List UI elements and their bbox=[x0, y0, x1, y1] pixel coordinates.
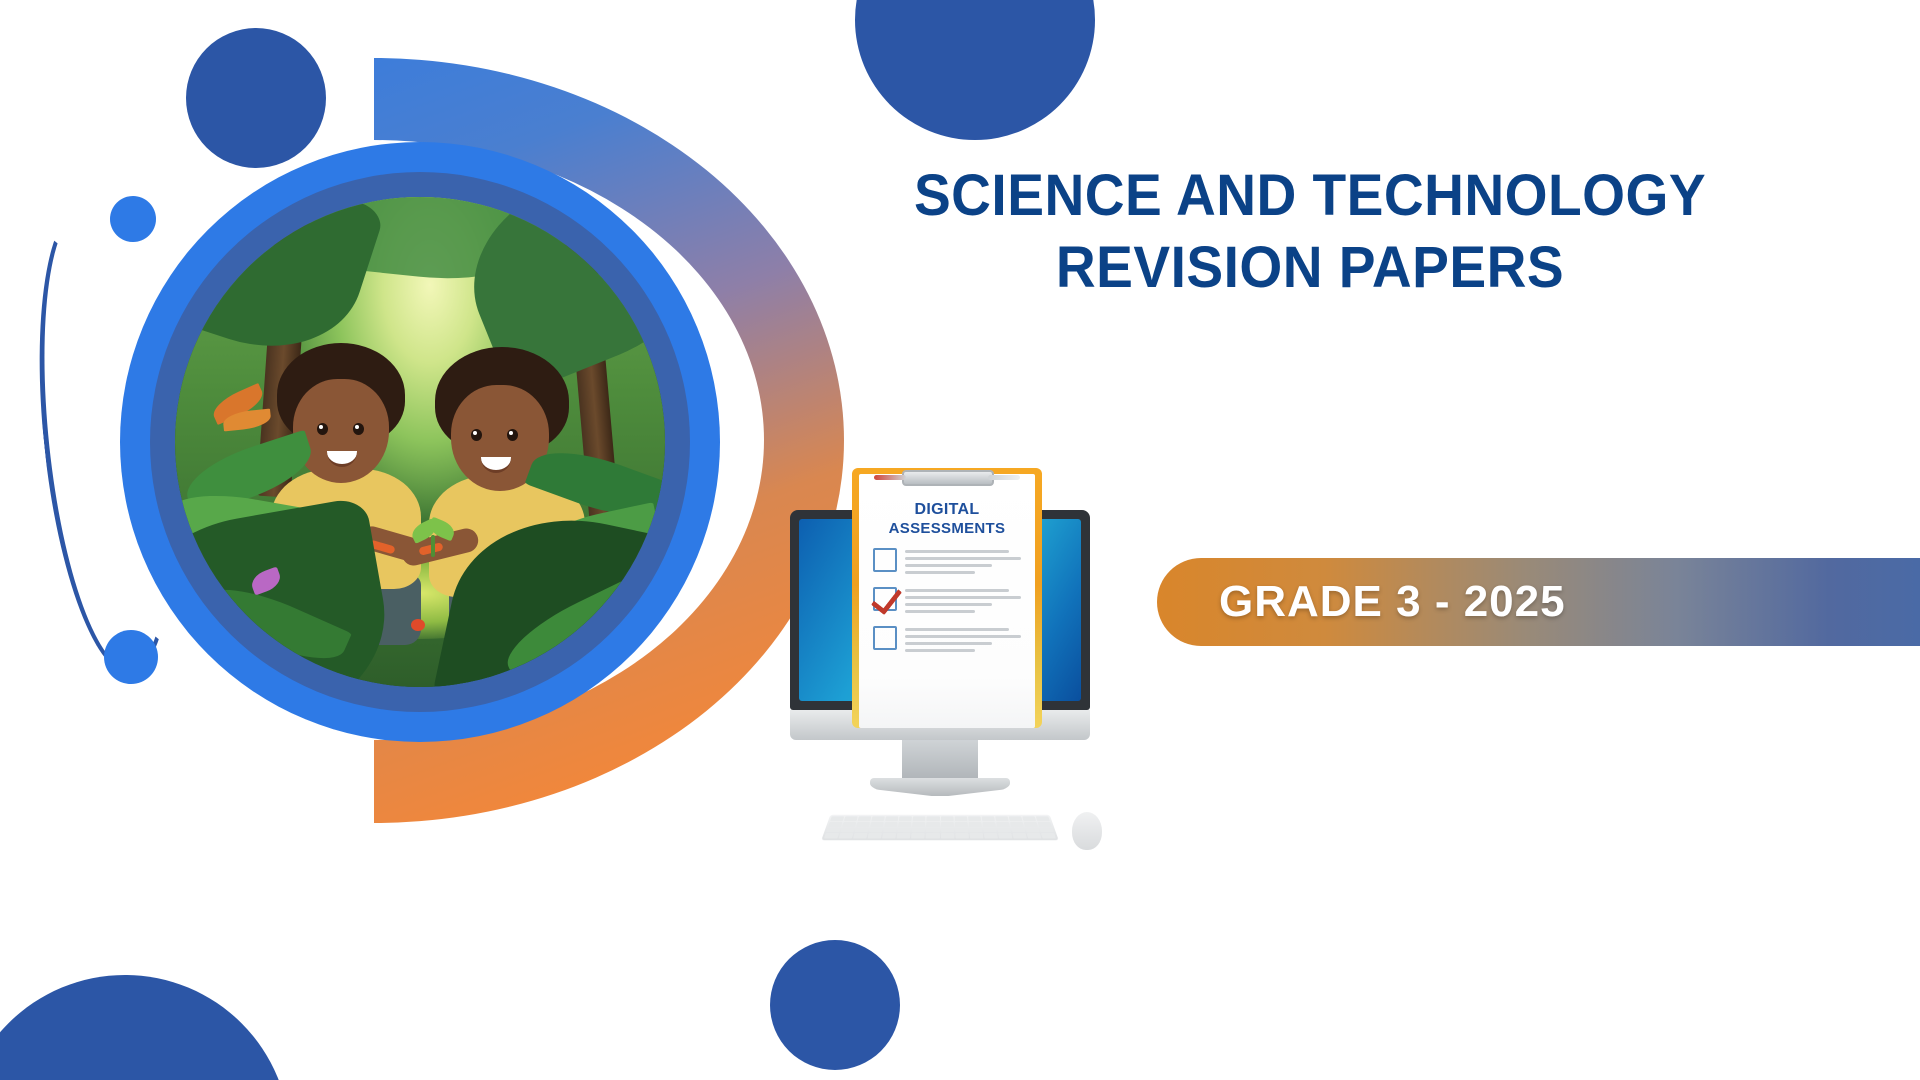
monitor-foot bbox=[870, 778, 1010, 796]
checklist-item bbox=[873, 626, 1021, 656]
monitor-neck bbox=[902, 740, 978, 782]
page-title: SCIENCE AND TECHNOLOGY REVISION PAPERS bbox=[720, 160, 1900, 304]
keyboard-row bbox=[830, 816, 1050, 821]
checklist-item bbox=[873, 587, 1021, 617]
seedling-plant bbox=[411, 519, 459, 559]
slide-canvas: CALVING bbox=[0, 0, 1920, 1080]
child-left-eye-right bbox=[353, 423, 364, 435]
keyboard bbox=[821, 815, 1058, 840]
decor-circle-bottom-left bbox=[0, 975, 290, 1080]
grade-badge: GRADE 3 - 2025 bbox=[1157, 558, 1920, 646]
checklist-text-lines bbox=[905, 587, 1021, 617]
clipboard-title: DIGITAL ASSESSMENTS bbox=[873, 500, 1021, 538]
clipboard-title-line-2: ASSESSMENTS bbox=[873, 519, 1021, 538]
checkbox-checked-icon bbox=[873, 587, 897, 611]
clipboard-checklist bbox=[873, 548, 1021, 656]
child-left-eye-left bbox=[317, 423, 328, 435]
title-line-2: REVISION PAPERS bbox=[750, 232, 1871, 304]
red-insect bbox=[411, 619, 425, 631]
clipboard-title-line-1: DIGITAL bbox=[873, 500, 1021, 519]
keyboard-row bbox=[824, 833, 1056, 838]
decor-dot-top bbox=[110, 196, 156, 242]
clipboard-paper: DIGITAL ASSESSMENTS bbox=[859, 474, 1035, 728]
mouse bbox=[1072, 812, 1102, 850]
decor-dot-bottom bbox=[104, 630, 158, 684]
checklist-text-lines bbox=[905, 548, 1021, 578]
checklist-item bbox=[873, 548, 1021, 578]
child-right-eye-right bbox=[507, 429, 518, 441]
child-left-face bbox=[293, 379, 389, 483]
photo-ring-inner: CALVING bbox=[150, 172, 690, 712]
checklist-text-lines bbox=[905, 626, 1021, 656]
clipboard-pin-left bbox=[874, 475, 906, 480]
keyboard-row bbox=[828, 822, 1052, 827]
title-line-1: SCIENCE AND TECHNOLOGY bbox=[750, 160, 1871, 232]
clipboard-clamp bbox=[902, 470, 994, 486]
decor-circle-bottom-center bbox=[770, 940, 900, 1070]
decor-circle-top-right bbox=[855, 0, 1095, 140]
grade-badge-label: GRADE 3 - 2025 bbox=[1219, 577, 1566, 627]
hero-illustration: CALVING bbox=[175, 197, 665, 687]
computer-illustration: DIGITAL ASSESSMENTS bbox=[790, 460, 1120, 860]
clipboard: DIGITAL ASSESSMENTS bbox=[852, 468, 1042, 728]
checkbox-unchecked-icon bbox=[873, 548, 897, 572]
child-right-eye-left bbox=[471, 429, 482, 441]
keyboard-row bbox=[826, 827, 1054, 832]
checkbox-unchecked-icon bbox=[873, 626, 897, 650]
photo-ring-outer: CALVING bbox=[120, 142, 720, 742]
clipboard-pin-right bbox=[988, 475, 1020, 480]
decor-circle-top-left bbox=[186, 28, 326, 168]
